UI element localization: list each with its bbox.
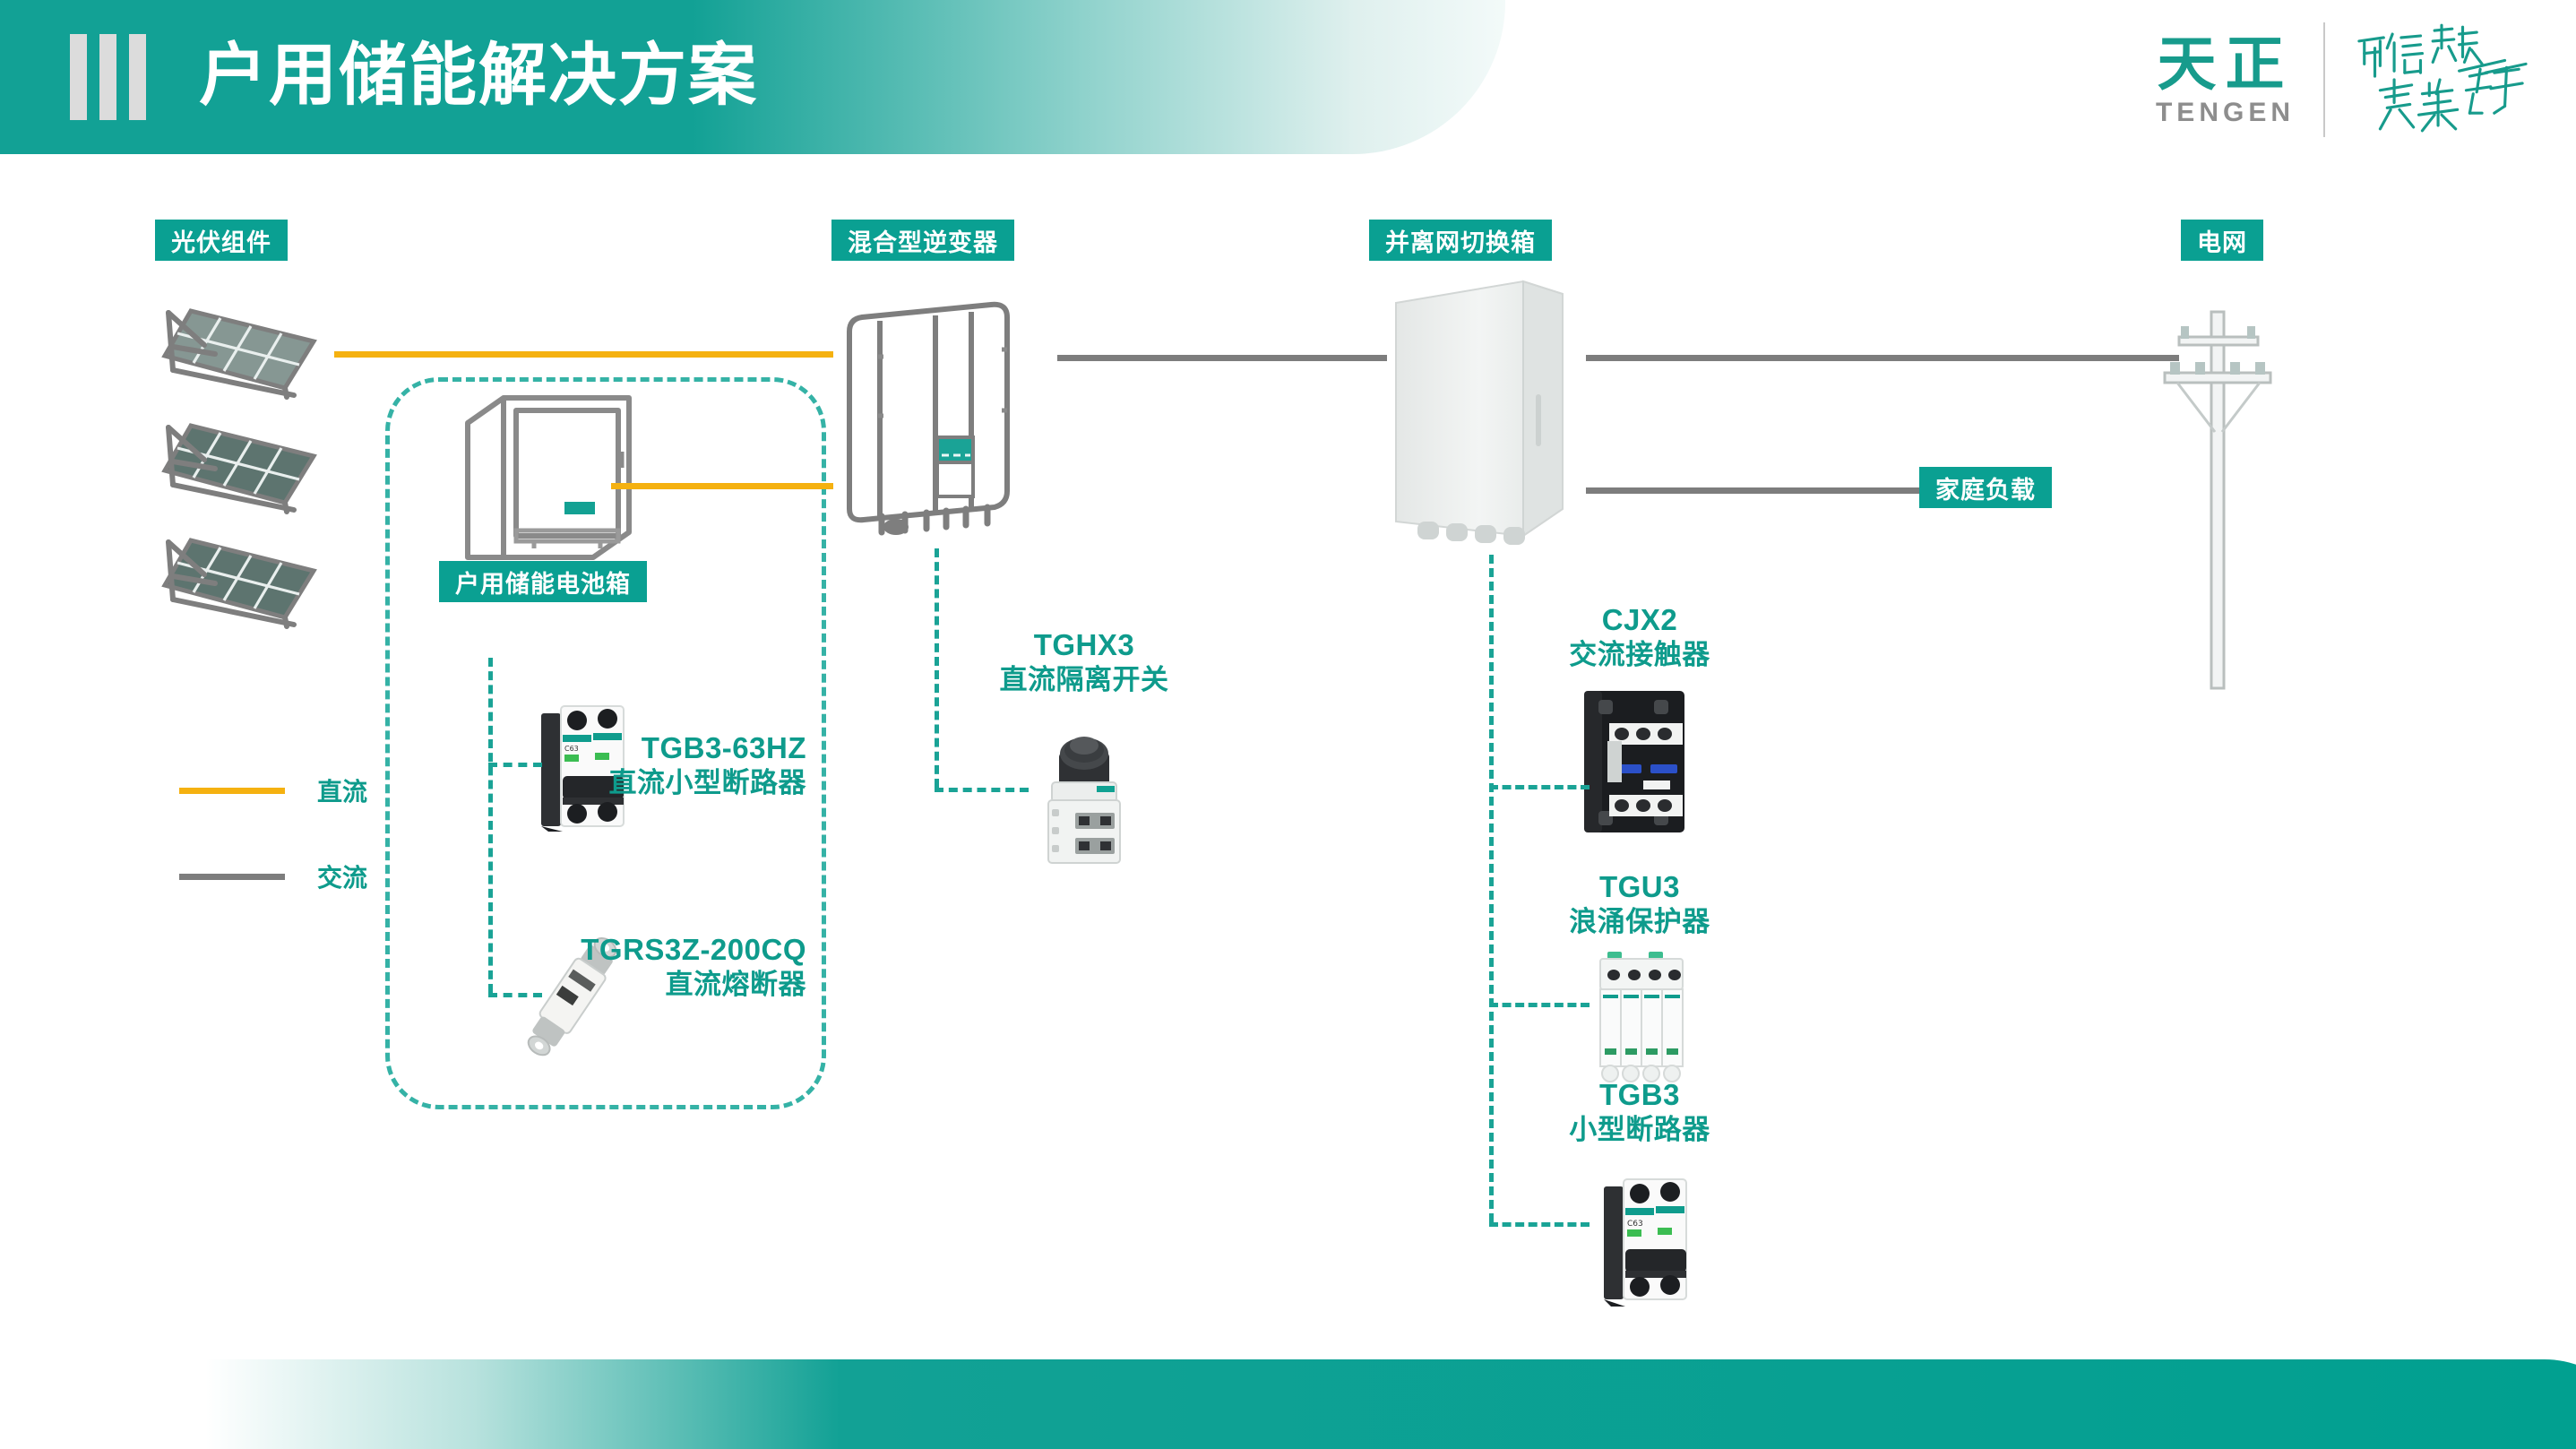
solar-panel-icon-2 xyxy=(151,415,321,513)
legend-item-ac: 交流 xyxy=(179,852,367,901)
dashed-branch-tgu3 xyxy=(1489,1003,1590,1007)
caption-tgu3: TGU3 浪涌保护器 xyxy=(1505,869,1774,939)
legend-swatch-ac xyxy=(179,874,285,880)
dashed-trunk-battery xyxy=(488,658,493,993)
solar-panel-icon-3 xyxy=(151,530,321,628)
legend-label-ac: 交流 xyxy=(317,858,367,894)
product-image-tghx3 xyxy=(1032,727,1136,870)
product-image-tgb3: C63 xyxy=(1600,1172,1694,1308)
caption-tgb3-63hz: TGB3-63HZ 直流小型断路器 xyxy=(556,730,806,800)
grid-switch-box-icon xyxy=(1387,278,1571,547)
solution-diagram-page: 户用储能解决方案 天正 TENGEN xyxy=(0,0,2576,1449)
page-header: 户用储能解决方案 xyxy=(0,0,1505,154)
stage-label-pv: 光伏组件 xyxy=(155,220,288,261)
page-footer xyxy=(0,1356,2576,1449)
stage-label-inverter: 混合型逆变器 xyxy=(831,220,1014,261)
logo-slogan-handwriting xyxy=(2354,22,2529,138)
dashed-branch-cjx2 xyxy=(1489,785,1590,789)
dc-line-pv-to-inverter xyxy=(334,351,833,358)
legend: 直流 交流 xyxy=(179,766,367,901)
dc-line-battery-to-inverter xyxy=(611,483,833,489)
header-bars-icon xyxy=(70,34,146,120)
logo-divider xyxy=(2323,22,2325,137)
dashed-branch-tgrs3z xyxy=(488,993,542,997)
logo-mark: 天正 TENGEN xyxy=(2156,31,2295,128)
logo-brand-en: TENGEN xyxy=(2156,98,2295,128)
page-title: 户用储能解决方案 xyxy=(199,27,758,125)
dashed-branch-tgb3 xyxy=(1489,1222,1590,1227)
stage-label-switch-box: 并离网切换箱 xyxy=(1369,220,1552,261)
stage-label-home-load: 家庭负载 xyxy=(1919,467,2052,508)
caption-cjx2: CJX2 交流接触器 xyxy=(1505,602,1774,672)
dashed-branch-tghx3 xyxy=(935,788,1029,792)
dashed-trunk-switchbox xyxy=(1489,555,1494,1222)
ac-line-inverter-to-switchbox xyxy=(1057,355,1387,361)
brand-logo: 天正 TENGEN xyxy=(2156,22,2529,138)
product-image-cjx2 xyxy=(1575,686,1697,838)
svg-text:C63: C63 xyxy=(1627,1220,1643,1229)
logo-brand-cn: 天正 xyxy=(2157,31,2293,96)
ac-line-switchbox-to-homeload xyxy=(1586,487,1919,494)
legend-item-dc: 直流 xyxy=(179,766,367,815)
dashed-branch-tgb3-63hz xyxy=(488,763,542,767)
legend-label-dc: 直流 xyxy=(317,772,367,808)
stage-label-grid: 电网 xyxy=(2181,220,2263,261)
solar-panel-icon-1 xyxy=(151,300,321,399)
caption-tghx3: TGHX3 直流隔离开关 xyxy=(941,627,1228,697)
ac-line-switchbox-to-grid xyxy=(1586,355,2179,361)
product-image-tgu3 xyxy=(1590,950,1693,1084)
caption-tgb3: TGB3 小型断路器 xyxy=(1505,1077,1774,1147)
caption-tgrs3z-200cq: TGRS3Z-200CQ 直流熔断器 xyxy=(538,932,806,1002)
footer-band xyxy=(206,1359,2576,1449)
battery-cabinet-icon xyxy=(457,387,636,566)
dashed-trunk-inverter xyxy=(935,548,939,788)
hybrid-inverter-icon xyxy=(840,296,1029,533)
legend-swatch-dc xyxy=(179,788,285,794)
